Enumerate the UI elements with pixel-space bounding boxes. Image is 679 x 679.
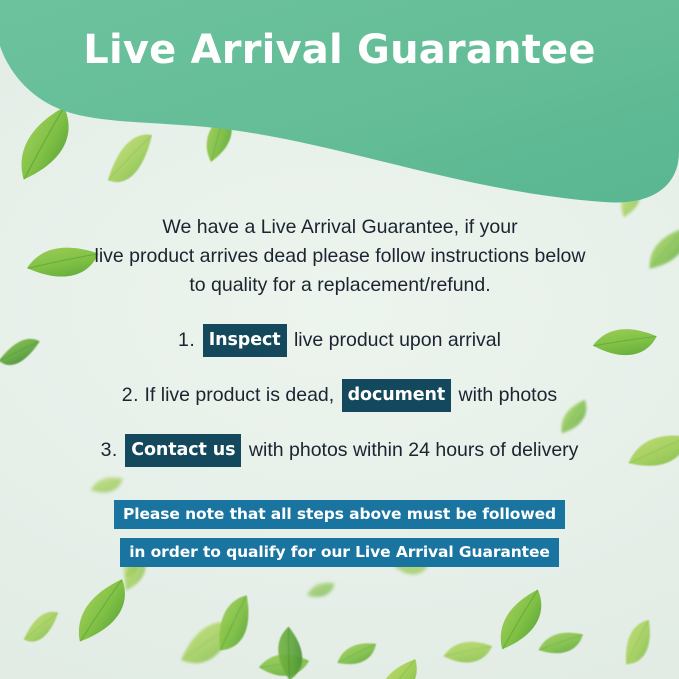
instruction-step-2: 2. If live product is dead, document wit… xyxy=(0,379,679,412)
intro-line-2: live product arrives dead please follow … xyxy=(60,242,620,271)
note-bar-1: Please note that all steps above must be… xyxy=(114,500,565,529)
intro-line-3: to quality for a replacement/refund. xyxy=(60,271,620,300)
leaf-icon xyxy=(618,618,658,669)
leaf-icon xyxy=(209,592,260,655)
step-1-number: 1. xyxy=(178,329,195,351)
step-2-number: 2. xyxy=(122,384,139,406)
leaf-icon xyxy=(442,629,495,675)
leaf-icon xyxy=(640,226,679,272)
step-1-highlight: Inspect xyxy=(203,324,287,357)
leaf-icon xyxy=(306,578,336,603)
intro-paragraph: We have a Live Arrival Guarantee, if you… xyxy=(60,213,620,300)
live-arrival-guarantee-poster: Live Arrival Guarantee We have a Live Ar… xyxy=(0,0,679,679)
step-2-text-after: with photos xyxy=(459,384,558,406)
note-bar-1-wrap: Please note that all steps above must be… xyxy=(0,500,679,529)
leaf-icon xyxy=(62,576,143,646)
intro-line-1: We have a Live Arrival Guarantee, if you… xyxy=(60,213,620,242)
leaf-icon xyxy=(367,657,428,679)
leaf-icon xyxy=(90,471,124,500)
step-2-text-before: If live product is dead, xyxy=(144,384,334,406)
leaf-icon xyxy=(22,603,60,651)
page-title: Live Arrival Guarantee xyxy=(0,28,679,72)
leaf-icon xyxy=(537,623,585,662)
leaf-icon xyxy=(179,609,237,677)
note-bar-2: in order to qualify for our Live Arrival… xyxy=(120,538,559,567)
instruction-step-1: 1. Inspect live product upon arrival xyxy=(0,324,679,357)
leaf-icon xyxy=(483,587,558,654)
step-3-highlight: Contact us xyxy=(125,434,241,467)
step-3-text-after: with photos within 24 hours of delivery xyxy=(249,439,579,461)
note-bar-2-wrap: in order to qualify for our Live Arrival… xyxy=(0,538,679,567)
leaf-icon xyxy=(261,624,319,679)
leaf-icon xyxy=(336,637,378,670)
footer-notes: Please note that all steps above must be… xyxy=(0,500,679,567)
step-2-highlight: document xyxy=(342,379,452,412)
leaf-icon xyxy=(257,640,312,679)
instruction-step-3: 3. Contact us with photos within 24 hour… xyxy=(0,434,679,467)
step-1-text-after: live product upon arrival xyxy=(294,329,501,351)
step-3-number: 3. xyxy=(101,439,118,461)
